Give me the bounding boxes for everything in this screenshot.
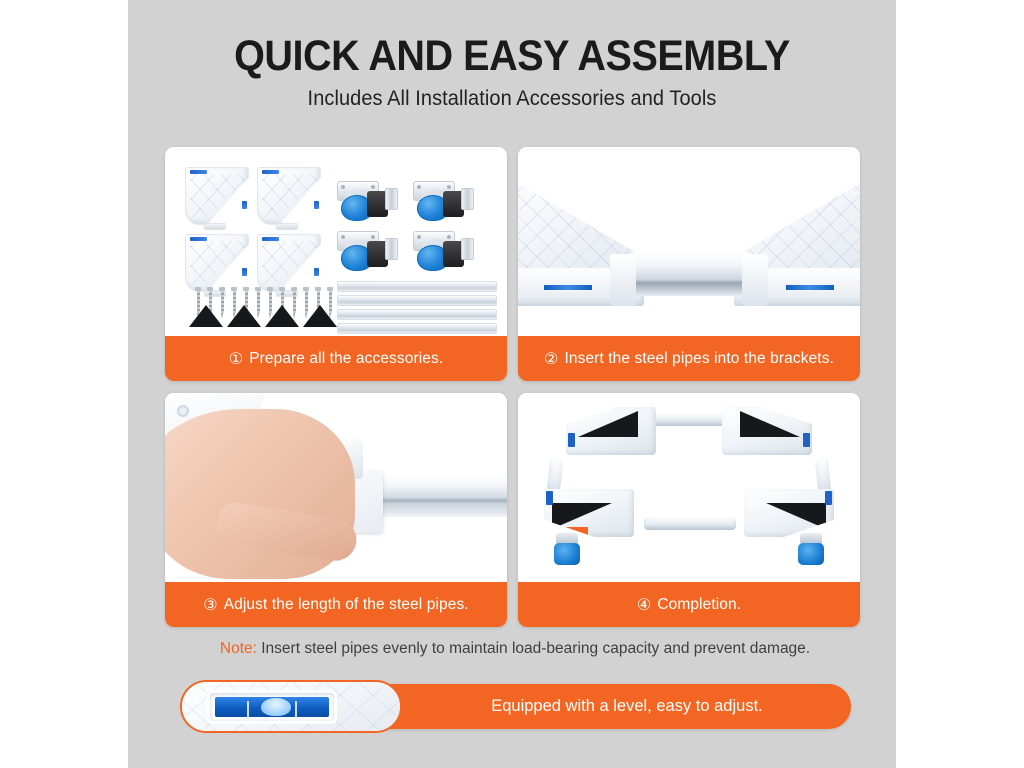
step-2-caption-text: Insert the steel pipes into the brackets…	[564, 350, 833, 368]
step-3-caption: ③ Adjust the length of the steel pipes.	[165, 582, 507, 627]
caster-front-right	[798, 533, 824, 565]
level-photo	[180, 680, 402, 733]
note-label: Note:	[220, 640, 257, 657]
step-1-caption-text: Prepare all the accessories.	[249, 350, 443, 368]
bubble-level-right	[784, 283, 836, 292]
caster-part	[337, 181, 399, 223]
bracket-part	[257, 167, 321, 225]
bracket-part	[257, 234, 321, 292]
steps-grid: ① Prepare all the accessories.	[165, 147, 861, 627]
caster-part	[413, 231, 475, 273]
screw-part	[303, 287, 309, 319]
step-4-number: ④	[637, 595, 651, 615]
step-4-caption: ④ Completion.	[518, 582, 860, 627]
steel-pipe-part	[630, 252, 748, 296]
caster-part	[413, 181, 475, 223]
bracket-socket-left	[610, 254, 636, 306]
page-title: QUICK AND EASY ASSEMBLY	[159, 34, 866, 79]
screw-part	[219, 287, 225, 319]
step-panel-3[interactable]: ③ Adjust the length of the steel pipes.	[165, 393, 507, 627]
note-text: Insert steel pipes evenly to maintain lo…	[261, 640, 810, 657]
step-2-caption: ② Insert the steel pipes into the bracke…	[518, 336, 860, 381]
step-1-image	[165, 147, 507, 336]
crossbar-bottom	[644, 517, 736, 530]
level-banner-text: Equipped with a level, easy to adjust.	[403, 697, 851, 716]
corner-top-right	[722, 407, 812, 455]
caster-front-left	[554, 533, 580, 565]
level-feature-banner[interactable]: Equipped with a level, easy to adjust.	[181, 684, 851, 729]
step-panel-1[interactable]: ① Prepare all the accessories.	[165, 147, 507, 381]
corner-top-left	[566, 407, 656, 455]
bracket-part	[185, 167, 249, 225]
screw-part	[255, 287, 261, 319]
header: QUICK AND EASY ASSEMBLY Includes All Ins…	[128, 34, 896, 111]
step-2-image	[518, 147, 860, 336]
screw-part	[267, 287, 273, 319]
bubble-level-left	[542, 283, 594, 292]
page-subtitle: Includes All Installation Accessories an…	[147, 87, 877, 111]
content-canvas: QUICK AND EASY ASSEMBLY Includes All Ins…	[128, 0, 896, 768]
step-3-image	[165, 393, 507, 582]
corner-bottom-right	[744, 489, 834, 537]
step-3-caption-text: Adjust the length of the steel pipes.	[224, 596, 469, 614]
step-2-number: ②	[544, 349, 558, 369]
corner-bottom-left	[544, 489, 634, 537]
step-4-image	[518, 393, 860, 582]
step-1-caption: ① Prepare all the accessories.	[165, 336, 507, 381]
step-1-number: ①	[229, 349, 243, 369]
step-panel-4[interactable]: ④ Completion.	[518, 393, 860, 627]
note-line: Note: Insert steel pipes evenly to maint…	[165, 640, 865, 658]
screw-part	[231, 287, 237, 319]
step-panel-2[interactable]: ② Insert the steel pipes into the bracke…	[518, 147, 860, 381]
caster-part	[337, 231, 399, 273]
level-window	[210, 693, 334, 721]
steps-row-bottom: ③ Adjust the length of the steel pipes.	[165, 393, 861, 627]
steps-row-top: ① Prepare all the accessories.	[165, 147, 861, 381]
bracket-part	[185, 234, 249, 292]
level-fluid	[215, 697, 329, 717]
page-root: QUICK AND EASY ASSEMBLY Includes All Ins…	[0, 0, 1024, 768]
steel-pipes-part	[337, 281, 497, 336]
bracket-socket-right	[742, 254, 768, 306]
step-4-caption-text: Completion.	[657, 596, 741, 614]
screw-part	[327, 287, 333, 319]
screw-part	[291, 287, 297, 319]
level-bubble	[261, 698, 291, 716]
step-3-number: ③	[203, 595, 217, 615]
